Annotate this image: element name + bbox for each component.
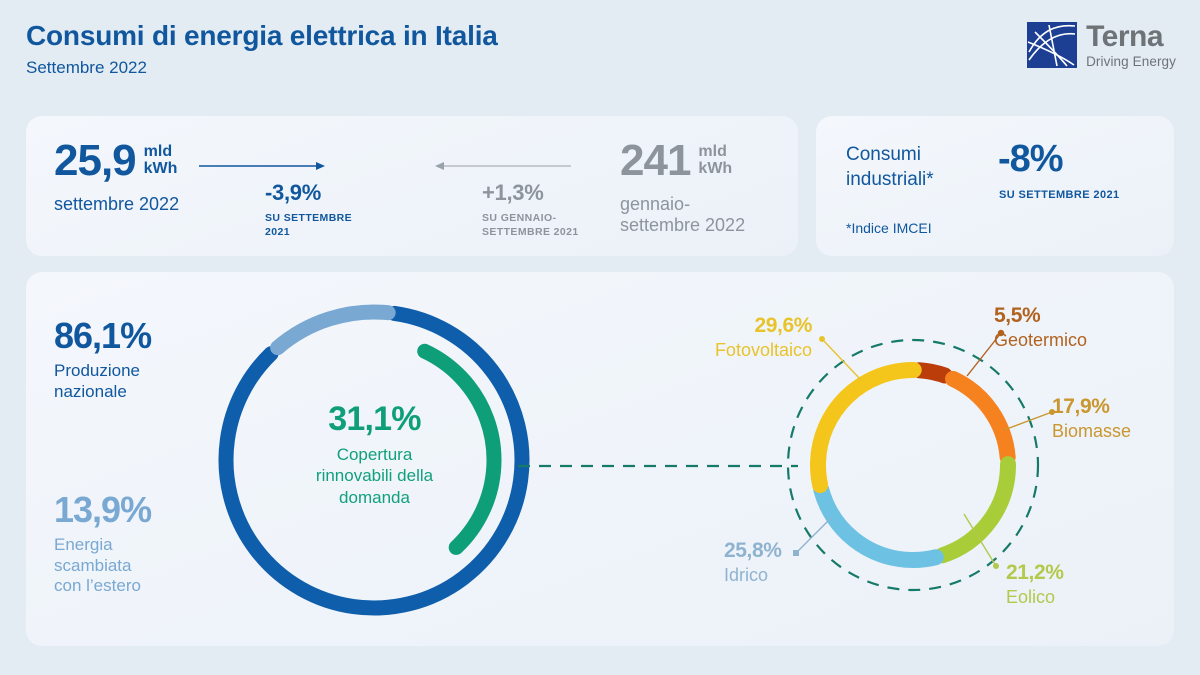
industrial-label-line1: Consumi xyxy=(846,144,921,165)
eolico-pct: 21,2% xyxy=(1006,562,1064,584)
industrial-consumption-card: Consumi industriali* -8% SU SETTEMBRE 20… xyxy=(816,116,1174,256)
label-biomasse: 17,9% Biomasse xyxy=(1052,396,1131,443)
foreign-exchange-label: Energia scambiata con l’estero xyxy=(54,535,151,597)
ytd-period-line2: settembre 2022 xyxy=(620,215,745,235)
foreign-exchange-line1: Energia xyxy=(54,535,113,554)
foreign-exchange-stat: 13,9% Energia scambiata con l’estero xyxy=(54,492,151,597)
ytd-consumption-period: gennaio- settembre 2022 xyxy=(620,194,745,237)
national-production-line2: nazionale xyxy=(54,382,127,401)
terna-logo-tagline: Driving Energy xyxy=(1086,55,1176,69)
ytd-delta-stat: +1,3% SU GENNAIO- SETTEMBRE 2021 xyxy=(482,180,579,239)
donut-center-label: 31,1% Copertura rinnovabili della domand… xyxy=(272,402,477,508)
national-production-stat: 86,1% Produzione nazionale xyxy=(54,318,151,402)
monthly-unit-line1: mld xyxy=(144,143,172,160)
donut-connector-line xyxy=(518,455,798,459)
national-production-label: Produzione nazionale xyxy=(54,361,151,402)
terna-logo-text: Terna Driving Energy xyxy=(1086,22,1176,69)
ytd-consumption-unit: mld kWh xyxy=(698,144,732,178)
infographic-page: Consumi di energia elettrica in Italia S… xyxy=(0,0,1200,675)
monthly-unit-line2: kWh xyxy=(144,160,178,177)
foreign-exchange-line2: scambiata xyxy=(54,556,131,575)
page-subtitle: Settembre 2022 xyxy=(26,58,498,78)
monthly-delta-value: -3,9% xyxy=(265,180,352,206)
monthly-delta-stat: -3,9% SU SETTEMBRE 2021 xyxy=(265,180,352,239)
geotermico-pct: 5,5% xyxy=(994,305,1087,327)
idrico-name: Idrico xyxy=(724,565,782,587)
terna-logo-name: Terna xyxy=(1086,22,1176,52)
ytd-unit-line1: mld xyxy=(698,143,726,160)
leader-line-eolico xyxy=(962,512,1002,570)
monthly-consumption-period: settembre 2022 xyxy=(54,194,179,216)
national-production-pct: 86,1% xyxy=(54,318,151,354)
biomasse-name: Biomasse xyxy=(1052,421,1131,443)
monthly-consumption-value: 25,9 xyxy=(54,140,136,182)
renewable-coverage-pct: 31,1% xyxy=(272,402,477,436)
national-production-line1: Produzione xyxy=(54,361,140,380)
label-fotovoltaico: 29,6% Fotovoltaico xyxy=(640,315,812,362)
industrial-label: Consumi industriali* xyxy=(846,143,934,192)
monthly-consumption-stat: 25,9 mld kWh settembre 2022 xyxy=(54,140,179,215)
leader-line-biomasse xyxy=(1000,408,1056,434)
industrial-note: SU SETTEMBRE 2021 xyxy=(999,189,1120,201)
ytd-delta-note-line2: SETTEMBRE 2021 xyxy=(482,226,579,238)
trend-arrow-right-icon xyxy=(199,160,325,172)
renewable-coverage-text: Copertura rinnovabili della domanda xyxy=(272,444,477,508)
leader-line-idrico xyxy=(792,515,836,559)
terna-logo-mark-icon xyxy=(1027,22,1077,68)
industrial-label-line2: industriali* xyxy=(846,169,934,190)
monthly-delta-note-line2: 2021 xyxy=(265,226,290,238)
ytd-delta-note-line1: SU GENNAIO- xyxy=(482,212,556,224)
ytd-consumption-stat: 241 mld kWh gennaio- settembre 2022 xyxy=(620,140,745,237)
monthly-consumption-unit: mld kWh xyxy=(144,144,178,178)
industrial-footnote: *Indice IMCEI xyxy=(846,220,932,236)
eolico-name: Eolico xyxy=(1006,587,1064,609)
label-idrico: 25,8% Idrico xyxy=(724,540,782,587)
coverage-line2: rinnovabili della xyxy=(316,466,433,485)
terna-logo: Terna Driving Energy xyxy=(1027,22,1176,69)
fotovoltaico-name: Fotovoltaico xyxy=(640,340,812,362)
coverage-line3: domanda xyxy=(339,488,410,507)
idrico-pct: 25,8% xyxy=(724,540,782,562)
biomasse-pct: 17,9% xyxy=(1052,396,1131,418)
foreign-exchange-line3: con l’estero xyxy=(54,576,141,595)
ytd-consumption-value: 241 xyxy=(620,140,690,182)
ytd-unit-line2: kWh xyxy=(698,160,732,177)
trend-arrow-left-icon xyxy=(435,160,571,172)
ytd-delta-note: SU GENNAIO- SETTEMBRE 2021 xyxy=(482,211,579,239)
monthly-delta-note-line1: SU SETTEMBRE xyxy=(265,212,352,224)
ytd-period-line1: gennaio- xyxy=(620,194,690,214)
summary-card: 25,9 mld kWh settembre 2022 -3,9% SU SET… xyxy=(26,116,798,256)
leader-line-fotovoltaico xyxy=(818,335,868,383)
label-eolico: 21,2% Eolico xyxy=(1006,562,1064,609)
page-title: Consumi di energia elettrica in Italia xyxy=(26,20,498,52)
page-header: Consumi di energia elettrica in Italia S… xyxy=(26,20,498,78)
coverage-line1: Copertura xyxy=(337,445,413,464)
monthly-delta-note: SU SETTEMBRE 2021 xyxy=(265,211,352,239)
label-geotermico: 5,5% Geotermico xyxy=(994,305,1087,352)
fotovoltaico-pct: 29,6% xyxy=(640,315,812,337)
foreign-exchange-pct: 13,9% xyxy=(54,492,151,528)
ytd-delta-value: +1,3% xyxy=(482,180,579,206)
industrial-value: -8% xyxy=(998,138,1063,181)
geotermico-name: Geotermico xyxy=(994,330,1087,352)
